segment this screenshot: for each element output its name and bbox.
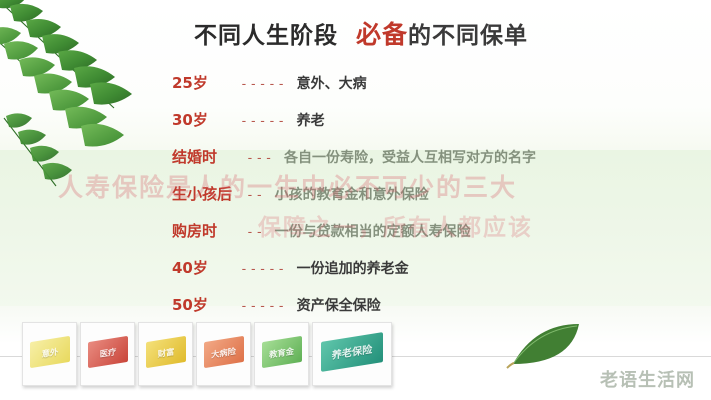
life-stage-list: 25岁 ----- 意外、大病 30岁 ----- 养老 结婚时 --- 各自一… [172,72,692,331]
insurance-card-strip: 意外 医疗 财富 大病险 教育金 养老保险 [22,322,392,386]
dash-separator: ----- [240,77,287,92]
stage-description: 小孩的教育金和意外保险 [275,184,429,204]
stage-label: 25岁 [172,72,236,93]
title-part1: 不同人生阶段 [194,23,338,49]
title-highlight: 必备 [356,20,408,49]
slide-canvas: 不同人生阶段 必备的不同保单 25岁 ----- 意外、大病 30岁 -----… [0,0,711,400]
dash-separator: -- [246,225,265,240]
stage-description: 资产保全保险 [297,295,381,315]
insurance-card[interactable]: 财富 [138,322,193,386]
insurance-card[interactable]: 意外 [22,322,77,386]
list-item: 结婚时 --- 各自一份寿险，受益人互相写对方的名字 [172,146,692,183]
stage-label: 结婚时 [172,146,242,167]
dash-separator: -- [246,188,265,203]
card-label: 教育金 [270,344,295,360]
stage-description: 意外、大病 [297,73,367,93]
stage-label: 30岁 [172,109,236,130]
stage-label: 40岁 [172,257,236,278]
list-item: 生小孩后 -- 小孩的教育金和意外保险 [172,183,692,220]
page-title: 不同人生阶段 必备的不同保单 [194,22,528,48]
card-chip: 教育金 [262,336,302,368]
card-chip: 财富 [146,336,186,368]
card-chip: 养老保险 [321,332,383,372]
card-chip: 意外 [30,336,70,368]
list-item: 购房时 -- 一份与贷款相当的定额人寿保险 [172,220,692,257]
title-part2: 的不同保单 [408,23,528,49]
insurance-card[interactable]: 医疗 [80,322,135,386]
stage-description: 一份追加的养老金 [297,258,409,278]
dash-separator: ----- [240,299,287,314]
dash-separator: --- [246,151,274,166]
insurance-card[interactable]: 教育金 [254,322,309,386]
stage-description: 一份与贷款相当的定额人寿保险 [275,221,471,241]
card-label: 医疗 [100,345,117,360]
stage-label: 生小孩后 [172,183,242,204]
insurance-card[interactable]: 养老保险 [312,322,392,386]
stage-description: 各自一份寿险，受益人互相写对方的名字 [284,147,536,167]
card-label: 养老保险 [332,341,372,362]
card-label: 财富 [158,345,175,360]
card-chip: 医疗 [88,336,128,368]
card-label: 大病险 [212,344,237,360]
stage-description: 养老 [297,110,325,130]
dash-separator: ----- [240,114,287,129]
list-item: 30岁 ----- 养老 [172,109,692,146]
list-item: 25岁 ----- 意外、大病 [172,72,692,109]
insurance-card[interactable]: 大病险 [196,322,251,386]
card-label: 意外 [42,345,59,360]
dash-separator: ----- [240,262,287,277]
card-chip: 大病险 [204,336,244,368]
stage-label: 50岁 [172,294,236,315]
stage-label: 购房时 [172,220,242,241]
list-item: 40岁 ----- 一份追加的养老金 [172,257,692,294]
